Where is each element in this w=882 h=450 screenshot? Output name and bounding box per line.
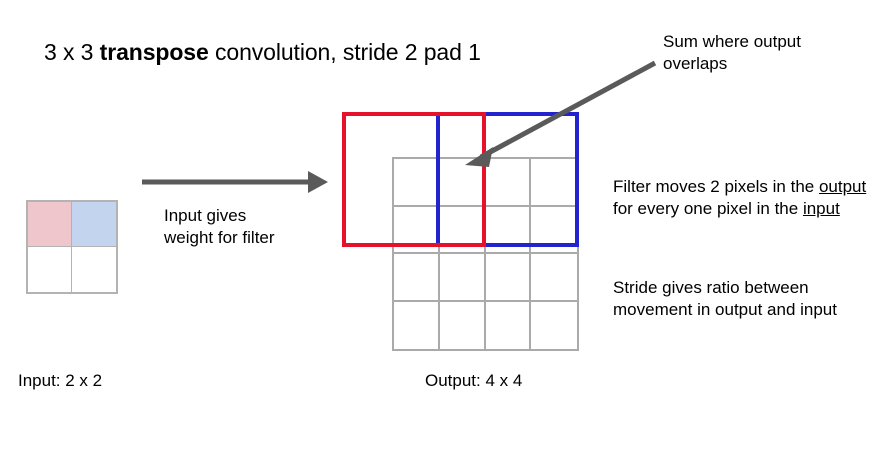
arrow-right-icon (140, 165, 330, 199)
output-cell-r2c3 (531, 254, 577, 302)
title-emphasis: transpose (100, 39, 209, 65)
output-cell-r2c2 (486, 254, 532, 302)
filter-note-part2: for every one pixel in the (613, 199, 803, 218)
output-caption: Output: 4 x 4 (425, 370, 522, 392)
input-cell-r1c0 (28, 247, 72, 292)
slide-canvas: 3 x 3 transpose convolution, stride 2 pa… (0, 0, 882, 450)
input-cell-r1c1 (72, 247, 116, 292)
arrow-diagonal-icon (455, 55, 670, 175)
filter-note-underline-output: output (819, 177, 866, 196)
filter-note-part1: Filter moves 2 pixels in the (613, 177, 819, 196)
page-title: 3 x 3 transpose convolution, stride 2 pa… (44, 38, 481, 66)
output-cell-r3c0 (394, 302, 440, 350)
filter-note-underline-input: input (803, 199, 840, 218)
annotation-filter-moves: Filter moves 2 pixels in the output for … (613, 176, 871, 220)
annotation-stride-ratio: Stride gives ratio between movement in o… (613, 277, 875, 321)
input-cell-r0c1 (72, 202, 116, 247)
input-caption: Input: 2 x 2 (18, 370, 102, 392)
annotation-sum-where-overlaps: Sum where output overlaps (663, 31, 863, 75)
output-cell-r2c0 (394, 254, 440, 302)
input-cell-r0c0 (28, 202, 72, 247)
output-cell-r2c1 (440, 254, 486, 302)
output-cell-r3c1 (440, 302, 486, 350)
output-cell-r3c2 (486, 302, 532, 350)
input-grid (26, 200, 118, 294)
output-cell-r3c3 (531, 302, 577, 350)
annotation-input-gives-weight: Input gives weight for filter (164, 205, 294, 249)
title-prefix: 3 x 3 (44, 39, 100, 65)
title-suffix: convolution, stride 2 pad 1 (209, 39, 481, 65)
